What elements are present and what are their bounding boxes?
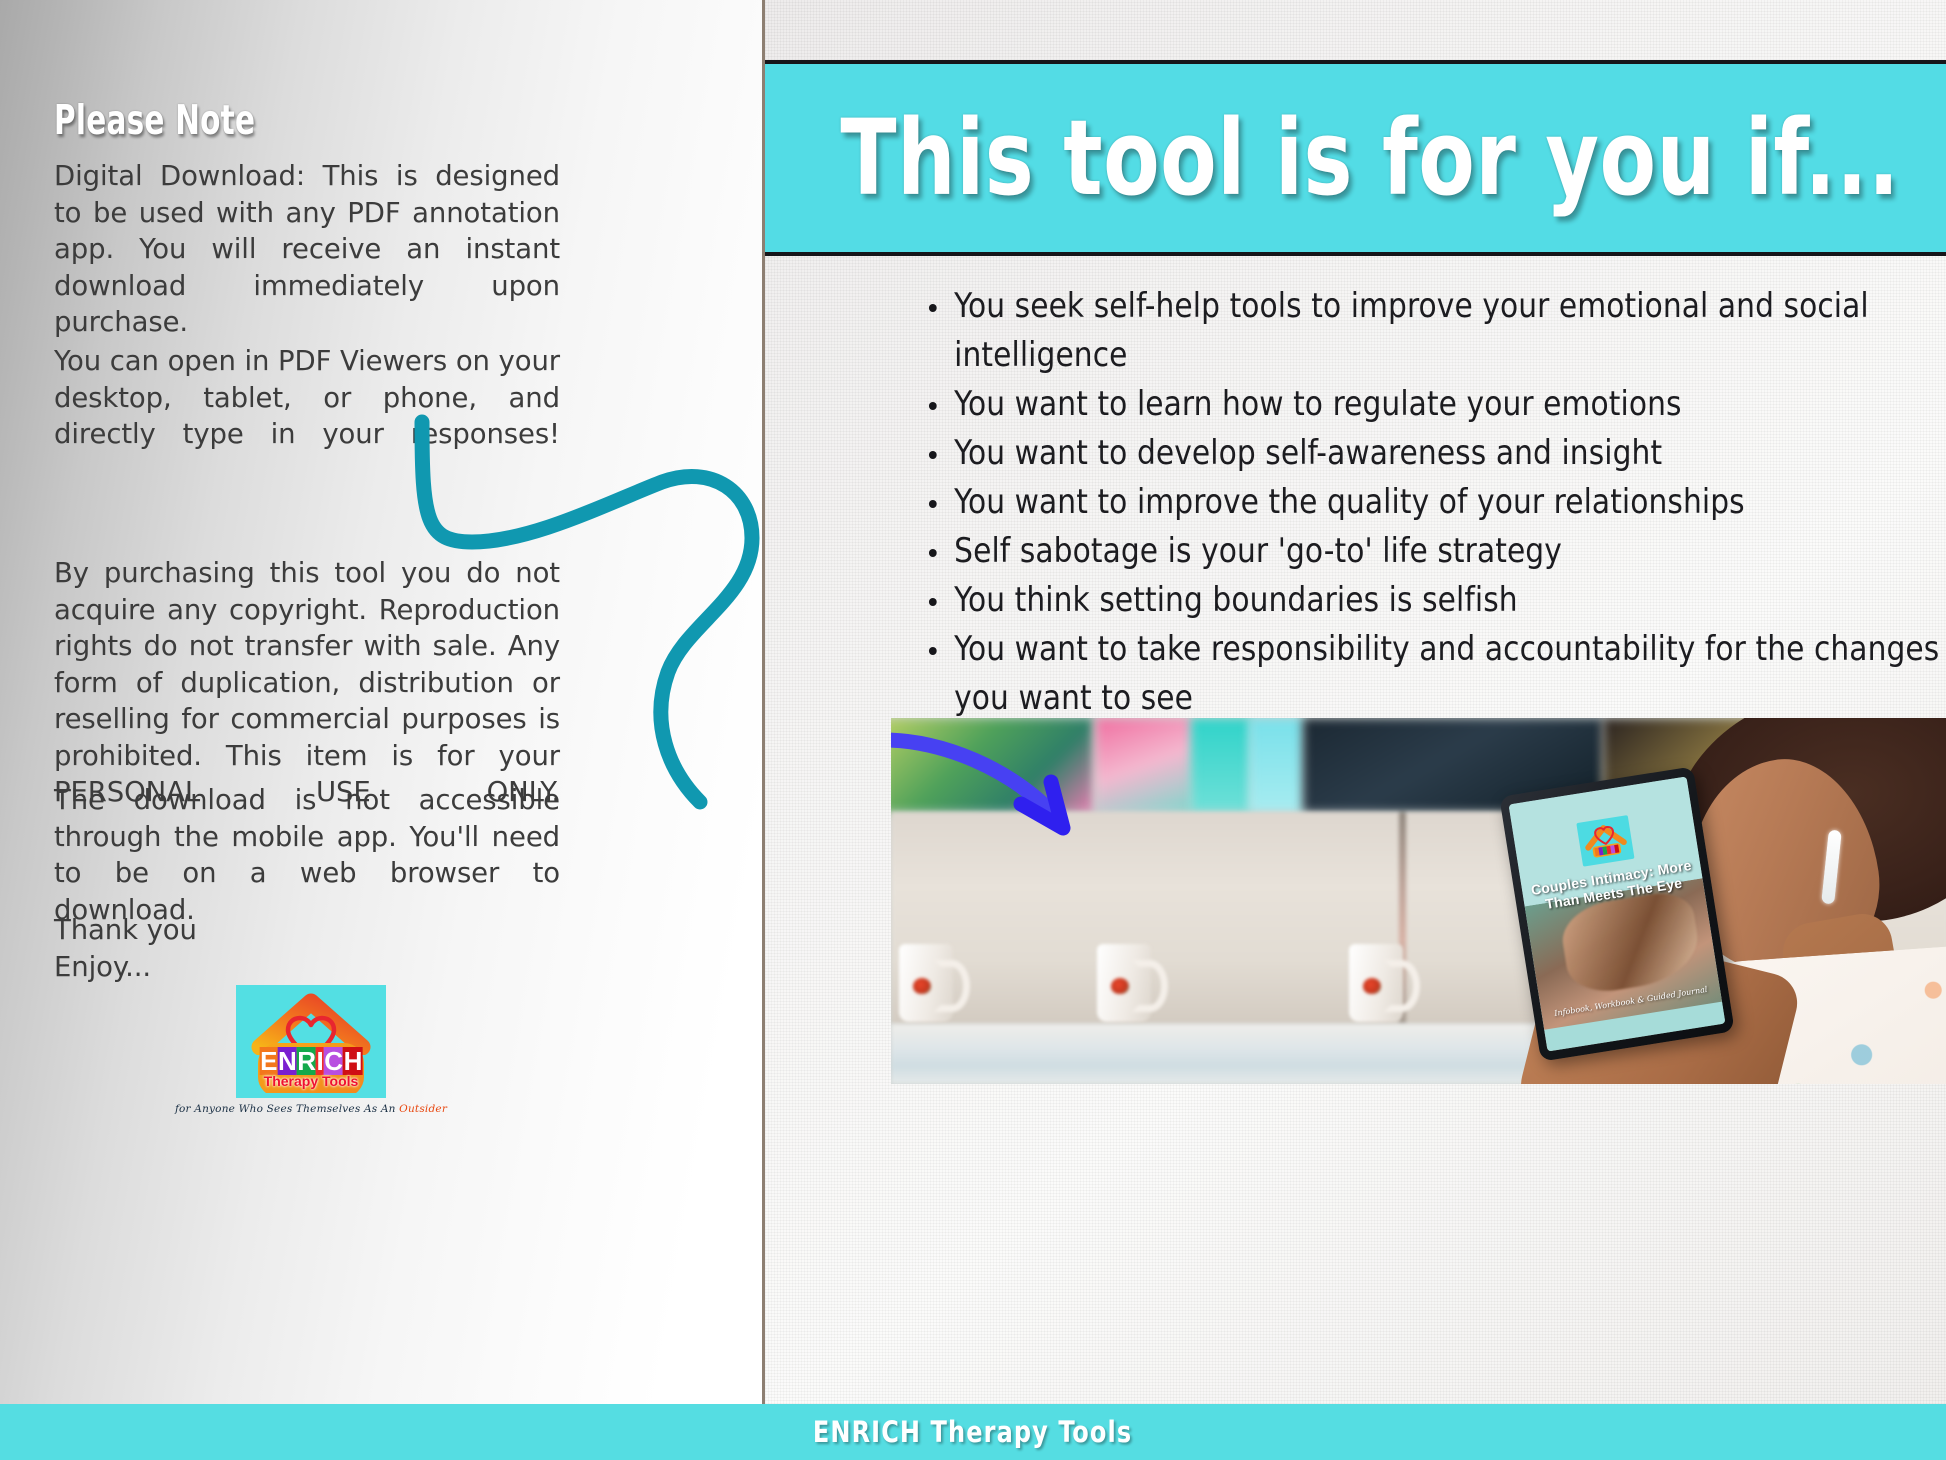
enrich-letter: R xyxy=(297,1047,316,1075)
banner-title: This tool is for you if... xyxy=(814,106,1900,210)
note-paragraph-viewers: You can open in PDF Viewers on your desk… xyxy=(54,343,560,489)
logo-tagline-highlight: Outsider xyxy=(399,1103,447,1115)
banner: This tool is for you if... xyxy=(765,60,1946,256)
page-canvas: Please Note Digital Download: This is de… xyxy=(0,0,1946,1460)
footer-bar: ENRICH Therapy Tools xyxy=(0,1404,1946,1460)
benefit-item: You want to learn how to regulate your e… xyxy=(927,380,1946,429)
cover-enrich-logo xyxy=(1576,815,1634,867)
enrich-letter: E xyxy=(260,1047,278,1075)
person-with-tablet: Couples Intimacy: More Than Meets The Ey… xyxy=(1499,718,1946,1084)
wall-art xyxy=(1249,718,1304,812)
wall-art xyxy=(1191,718,1251,812)
footer-brand-text: ENRICH Therapy Tools xyxy=(813,1415,1132,1449)
enrich-logo-card: ENRICH Therapy Tools xyxy=(236,985,386,1098)
benefit-item: You want to take responsibility and acco… xyxy=(927,625,1946,723)
ceramic-jug xyxy=(1097,944,1151,1022)
enrich-logo: ENRICH Therapy Tools for Anyone Who Sees… xyxy=(236,985,386,1098)
enrich-letter: N xyxy=(277,1047,296,1075)
benefit-item: You seek self-help tools to improve your… xyxy=(927,282,1946,380)
benefit-item: You want to improve the quality of your … xyxy=(927,478,1946,527)
enrich-letter: I xyxy=(316,1047,324,1075)
cover-logo-icon xyxy=(1576,815,1634,867)
enjoy-line: Enjoy... xyxy=(54,949,560,986)
left-note-panel: Please Note Digital Download: This is de… xyxy=(0,0,762,1404)
enrich-letter: C xyxy=(324,1047,343,1075)
ceramic-jug xyxy=(1349,944,1403,1022)
please-note-heading: Please Note xyxy=(54,96,255,144)
logo-tagline-prefix: for Anyone Who Sees Themselves As An xyxy=(175,1103,399,1115)
product-photo: Couples Intimacy: More Than Meets The Ey… xyxy=(891,718,1946,1084)
benefit-item: You want to develop self-awareness and i… xyxy=(927,429,1946,478)
logo-tagline: for Anyone Who Sees Themselves As An Out… xyxy=(175,1103,447,1115)
tablet-device: Couples Intimacy: More Than Meets The Ey… xyxy=(1499,766,1735,1061)
enrich-letter: H xyxy=(343,1047,362,1075)
right-content-panel: This tool is for you if... You seek self… xyxy=(762,0,1946,1404)
enrich-wordmark: ENRICH xyxy=(260,1047,363,1075)
note-paragraph-text: You can open in PDF Viewers on your desk… xyxy=(54,343,560,489)
blue-arrow-icon xyxy=(891,718,1141,912)
photo-scene: Couples Intimacy: More Than Meets The Ey… xyxy=(891,718,1946,1084)
note-paragraph-thanks: Thank you Enjoy... xyxy=(54,912,560,985)
logo-subtitle: Therapy Tools xyxy=(264,1073,359,1089)
benefit-item: You think setting boundaries is selfish xyxy=(927,576,1946,625)
tablet-screen: Couples Intimacy: More Than Meets The Ey… xyxy=(1509,776,1726,1051)
ceramic-jug xyxy=(899,944,953,1022)
benefit-item: Self sabotage is your 'go-to' life strat… xyxy=(927,527,1946,576)
thank-you-line: Thank you xyxy=(54,912,560,949)
